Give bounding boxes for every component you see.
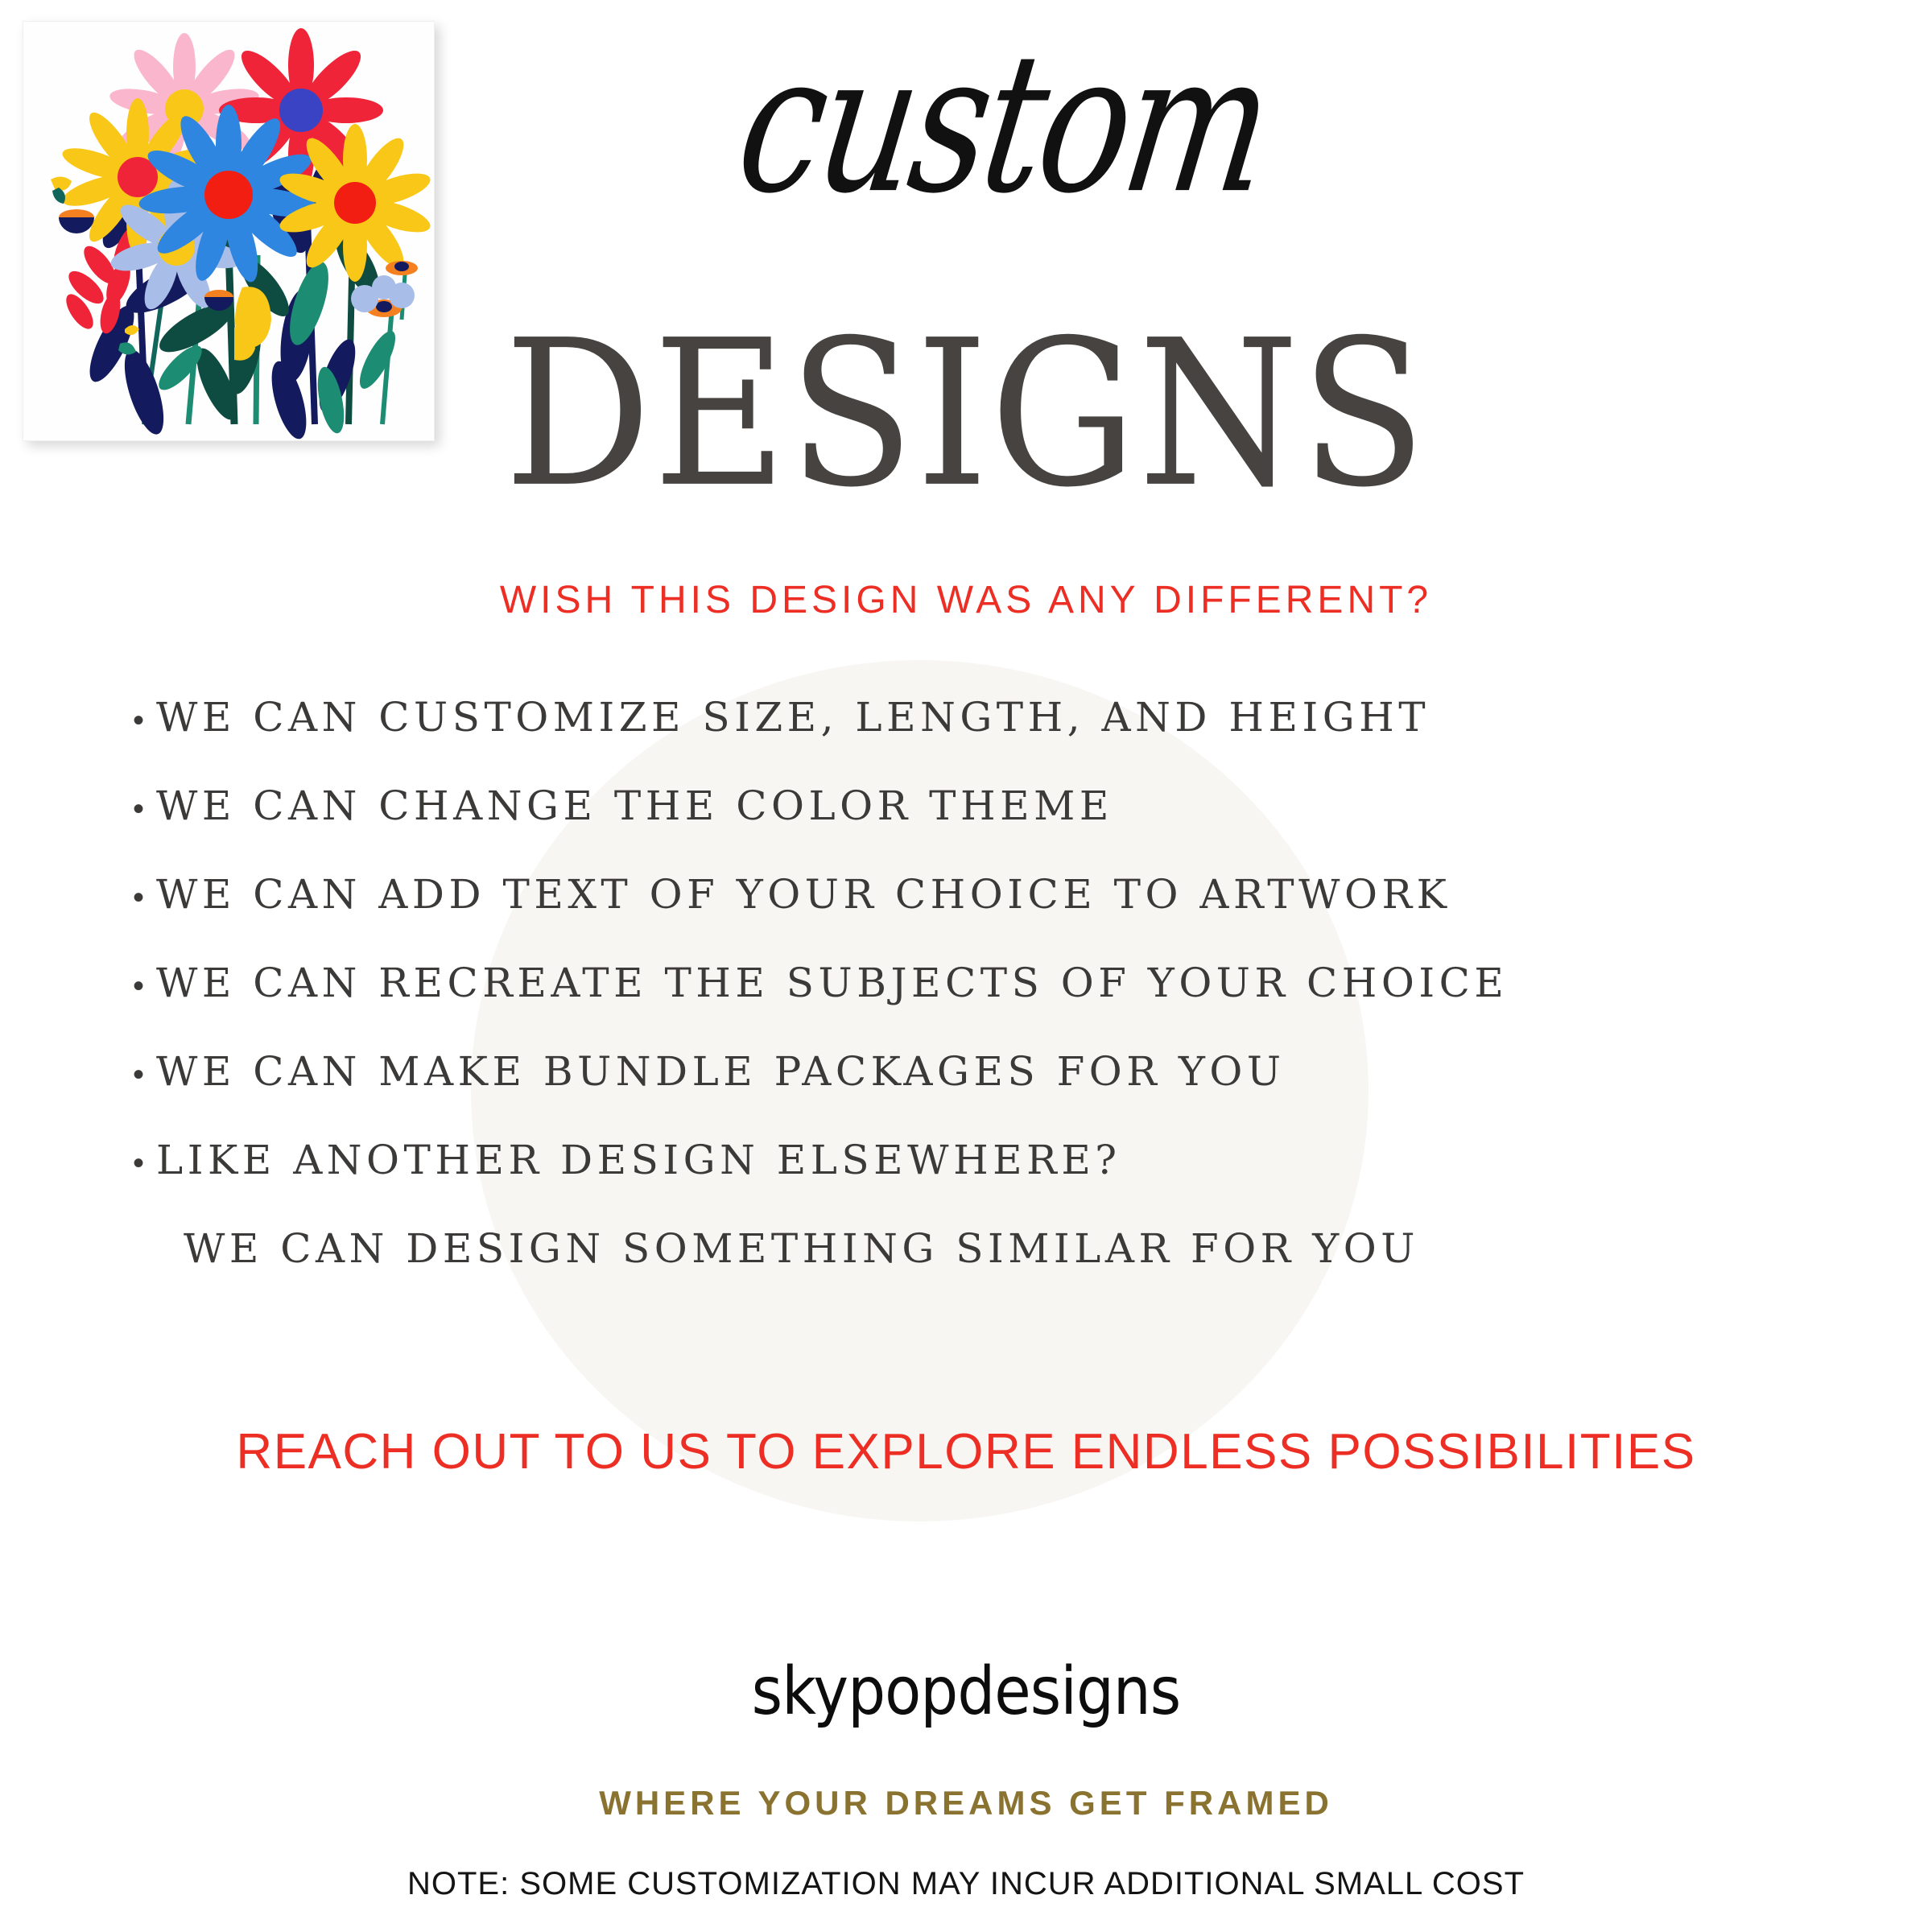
bullet-icon: • (121, 1147, 156, 1179)
brand-tagline: WHERE YOUR DREAMS GET FRAMED (0, 1784, 1932, 1823)
bullet-icon: • (121, 1059, 156, 1091)
list-item-label: WE CAN CUSTOMIZE SIZE, LENGTH, AND HEIGH… (156, 694, 1430, 741)
list-item-label: WE CAN CHANGE THE COLOR THEME (156, 782, 1113, 829)
list-item-label: WE CAN DESIGN SOMETHING SIMILAR FOR YOU (156, 1225, 1419, 1272)
headline-script-word: custom (729, 28, 1278, 221)
list-item: • WE CAN ADD TEXT OF YOUR CHOICE TO ARTW… (121, 871, 1892, 960)
bullet-icon: • (121, 970, 156, 1002)
list-item: • WE CAN RECREATE THE SUBJECTS OF YOUR C… (121, 960, 1892, 1048)
cta-text: REACH OUT TO US TO EXPLORE ENDLESS POSSI… (0, 1423, 1932, 1480)
benefits-list: • WE CAN CUSTOMIZE SIZE, LENGTH, AND HEI… (121, 694, 1892, 1306)
bullet-icon: • (121, 793, 156, 825)
list-item: • WE CAN CHANGE THE COLOR THEME (121, 782, 1892, 871)
brand-name: skypopdesigns (97, 1653, 1835, 1730)
list-item: • WE CAN MAKE BUNDLE PACKAGES FOR YOU (121, 1048, 1892, 1137)
list-item-label: LIKE ANOTHER DESIGN ELSEWHERE? (156, 1137, 1121, 1183)
headline-script: custom (0, 63, 1932, 221)
footer-note: NOTE: SOME CUSTOMIZATION MAY INCUR ADDIT… (0, 1866, 1932, 1902)
list-item-label: WE CAN RECREATE THE SUBJECTS OF YOUR CHO… (156, 960, 1508, 1006)
list-item-continuation: WE CAN DESIGN SOMETHING SIMILAR FOR YOU (121, 1225, 1892, 1306)
bullet-icon: • (121, 704, 156, 737)
list-item: • LIKE ANOTHER DESIGN ELSEWHERE? (121, 1137, 1892, 1225)
headline-serif-word: DESIGNS (504, 313, 1427, 515)
headline-serif: DESIGNS (0, 322, 1932, 506)
list-item-label: WE CAN ADD TEXT OF YOUR CHOICE TO ARTWOR… (156, 871, 1451, 918)
bullet-icon: • (121, 881, 156, 914)
list-item: • WE CAN CUSTOMIZE SIZE, LENGTH, AND HEI… (121, 694, 1892, 782)
subtitle-question: WISH THIS DESIGN WAS ANY DIFFERENT? (0, 578, 1932, 622)
list-item-label: WE CAN MAKE BUNDLE PACKAGES FOR YOU (156, 1048, 1285, 1095)
